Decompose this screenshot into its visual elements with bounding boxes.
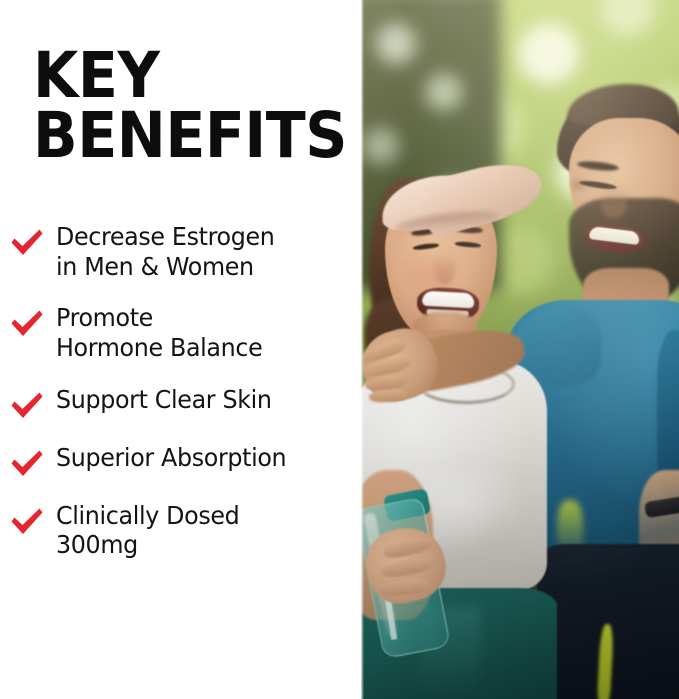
page-title-line-2: BENEFITS <box>33 106 321 166</box>
check-icon <box>10 507 44 537</box>
lifestyle-photo <box>361 0 679 699</box>
page-title-line-1: KEY <box>33 46 321 106</box>
man-nose <box>601 184 627 218</box>
check-icon <box>10 449 44 479</box>
man-teeth <box>589 226 640 245</box>
benefit-label: Clinically Dosed 300mg <box>56 501 239 560</box>
check-icon <box>10 309 44 339</box>
list-item: Decrease Estrogen in Men & Women <box>0 222 360 281</box>
list-item: Superior Absorption <box>0 443 360 479</box>
check-icon <box>10 391 44 421</box>
list-item: Promote Hormone Balance <box>0 303 360 362</box>
list-item: Clinically Dosed 300mg <box>0 501 360 560</box>
check-icon <box>10 228 44 258</box>
photo-left-edge <box>361 0 364 699</box>
benefit-label: Decrease Estrogen in Men & Women <box>56 222 274 281</box>
woman-teeth-upper <box>422 291 475 309</box>
benefit-label: Superior Absorption <box>56 443 286 473</box>
benefit-label: Support Clear Skin <box>56 385 272 415</box>
benefits-text-panel: KEY BENEFITS Decrease Estrogen in Men & … <box>0 0 360 699</box>
benefits-list: Decrease Estrogen in Men & Women Promote… <box>0 222 360 560</box>
benefit-label: Promote Hormone Balance <box>56 303 262 362</box>
key-benefits-poster: KEY BENEFITS Decrease Estrogen in Men & … <box>0 0 679 699</box>
woman-nose <box>435 252 455 284</box>
list-item: Support Clear Skin <box>0 385 360 421</box>
page-title: KEY BENEFITS <box>33 46 321 166</box>
